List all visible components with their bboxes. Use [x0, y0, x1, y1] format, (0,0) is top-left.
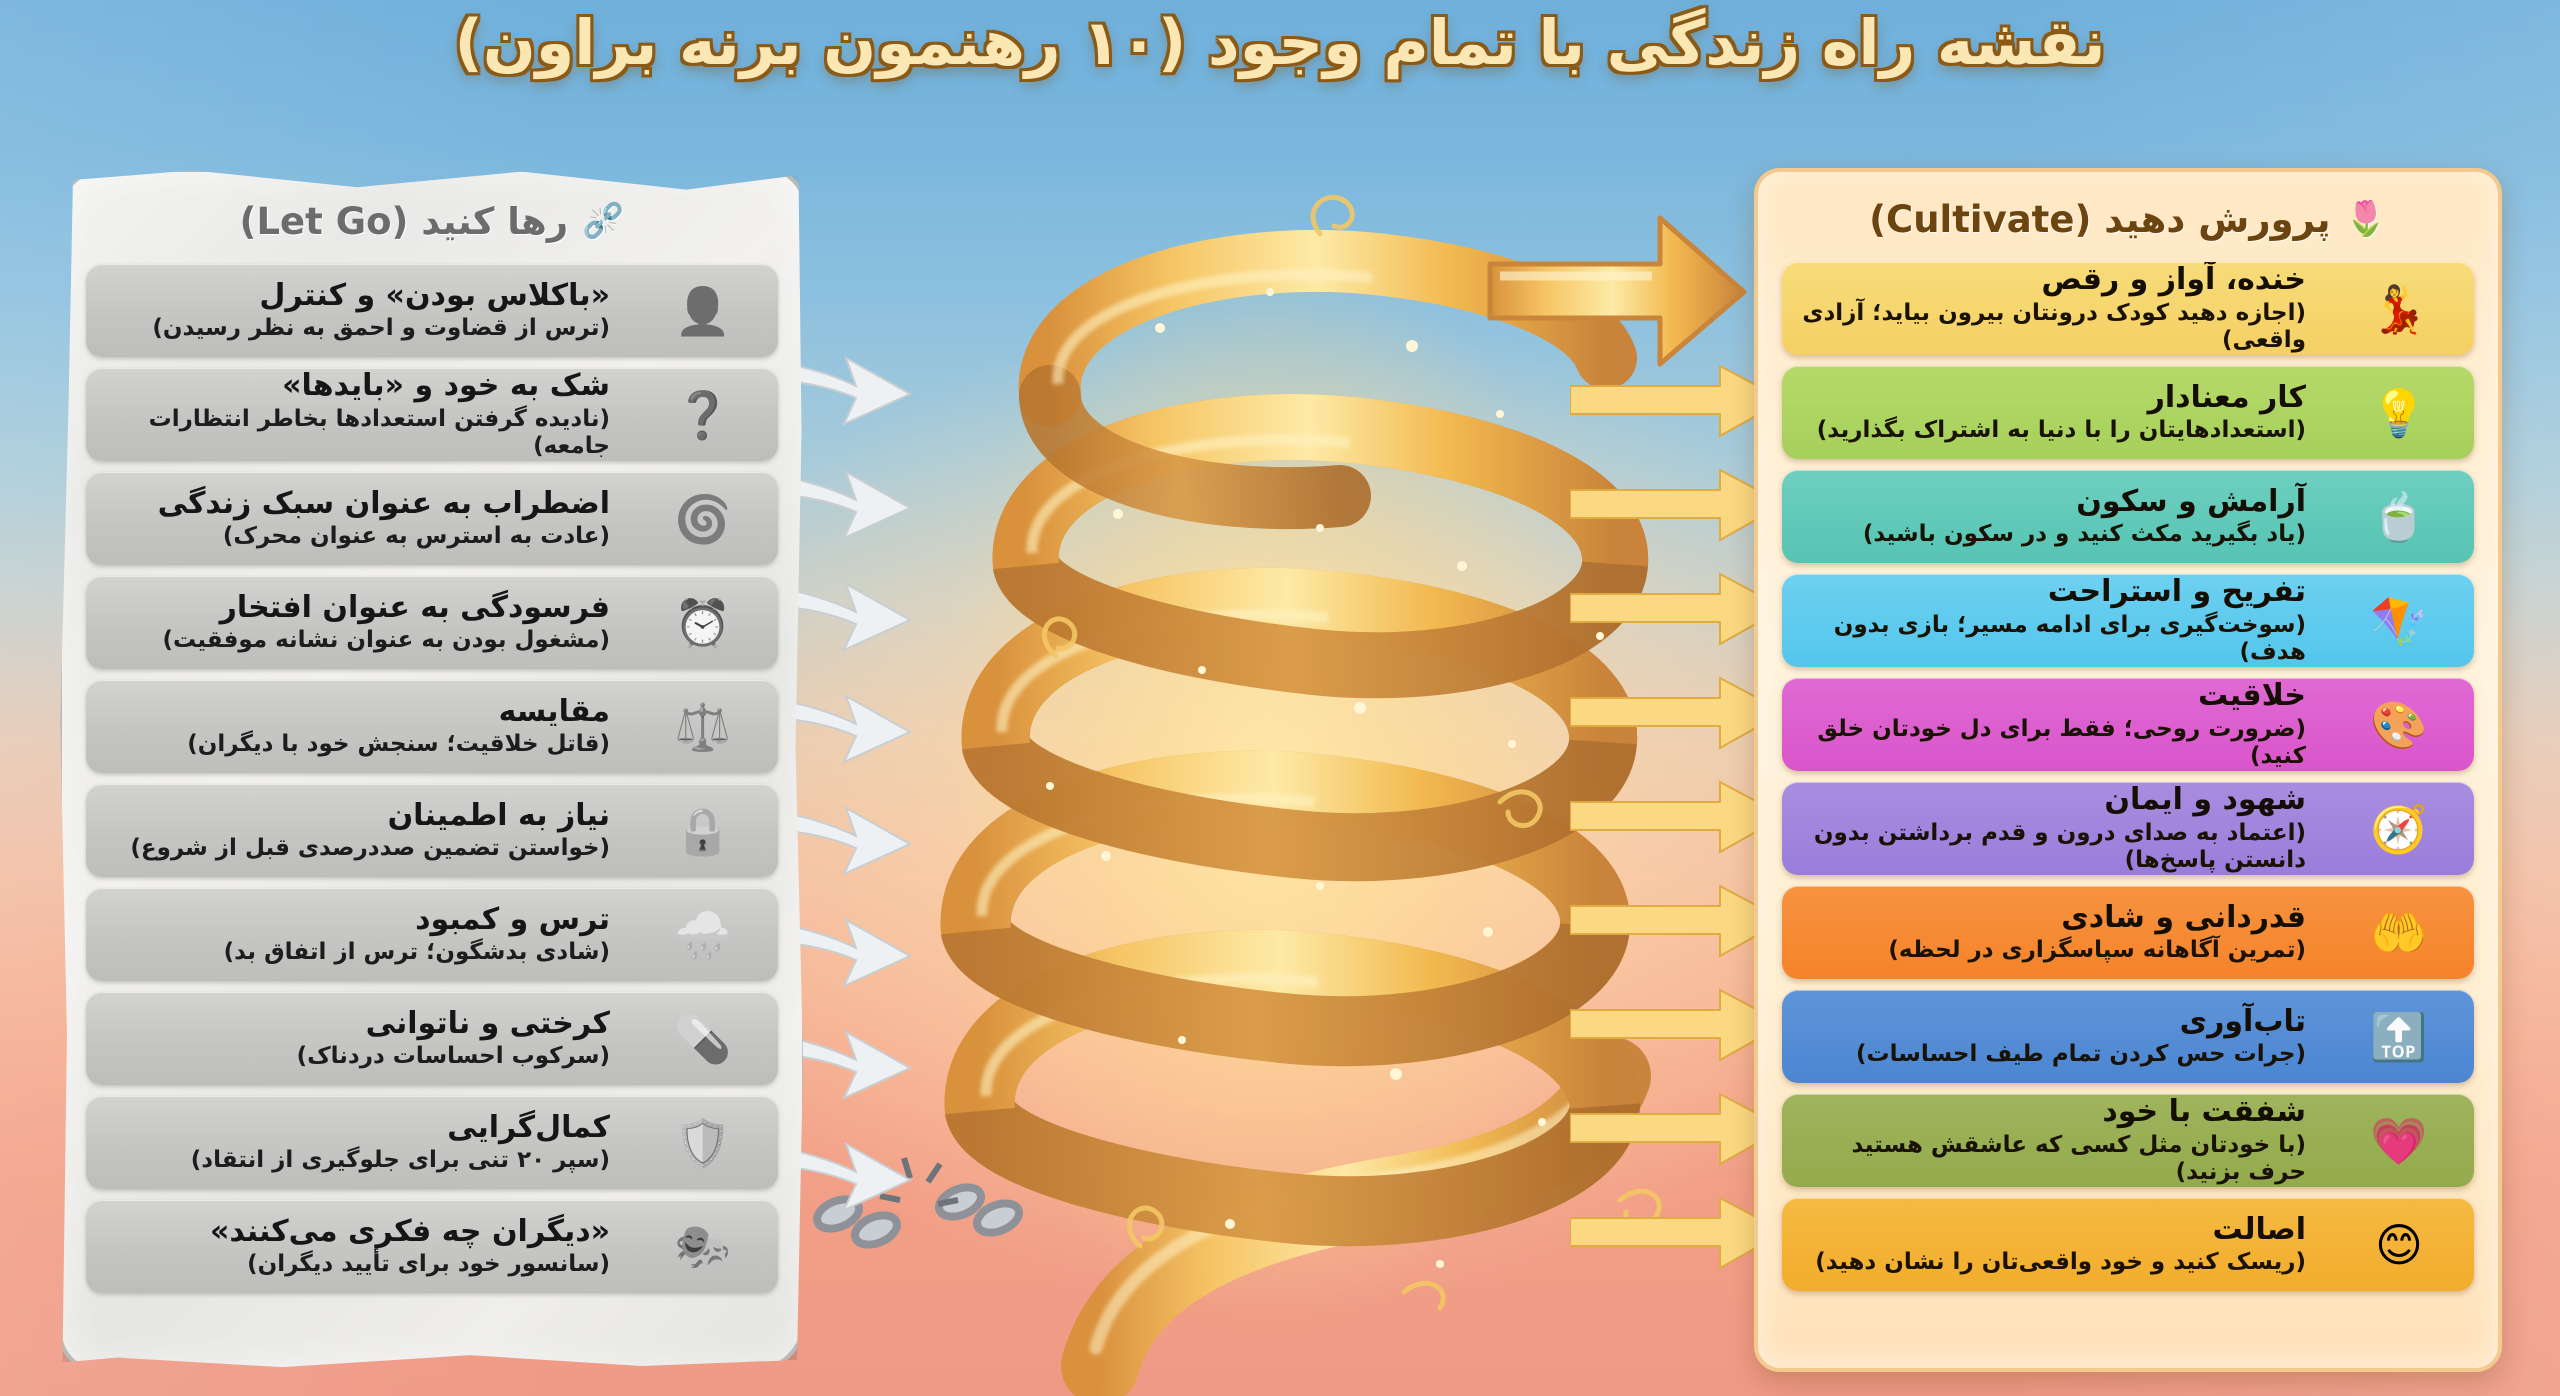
compass-icon: 🧭 — [2324, 785, 2474, 873]
pills-bottle-icon: 💊 — [628, 995, 778, 1083]
list-item[interactable]: ⚖️مقایسه(قاتل خلاقیت؛ سنجش خود با دیگران… — [86, 680, 778, 773]
list-item-subtitle: (عادت به استرس به عنوان محرک) — [96, 523, 610, 550]
broken-chain-icon: ⛓️‍💥 — [582, 201, 624, 241]
list-item-text: کرختی و ناتوانی(سرکوب احساسات دردناک) — [86, 1007, 628, 1071]
list-item[interactable]: 💡کار معنادار(استعدادهایتان را با دنیا به… — [1782, 366, 2474, 459]
list-item-subtitle: (سرکوب احساسات دردناک) — [96, 1043, 610, 1070]
list-item-title: ترس و کمبود — [96, 903, 610, 938]
list-item-title: مقایسه — [96, 695, 610, 730]
list-item[interactable]: 🛡️کمال‌گرایی(سپر ۲۰ تنی برای جلوگیری از … — [86, 1096, 778, 1189]
list-item-title: اضطراب به عنوان سبک زندگی — [96, 487, 610, 522]
list-item-title: خلاقیت — [1792, 679, 2306, 714]
list-item-title: کار معنادار — [1792, 381, 2306, 416]
list-item-subtitle: (با خودتان مثل کسی که عاشقش هستید حرف بز… — [1792, 1132, 2306, 1186]
tea-cup-icon: 🍵 — [2324, 473, 2474, 561]
list-item-subtitle: (جرات حس کردن تمام طیف احساسات) — [1792, 1041, 2306, 1068]
list-item[interactable]: 🌧️ترس و کمبود(شادی بدشگون؛ ترس از اتفاق … — [86, 888, 778, 981]
let-go-header-label: رها کنید (Let Go) — [240, 200, 569, 243]
list-item-subtitle: (سانسور خود برای تأیید دیگران) — [96, 1251, 610, 1278]
list-item-subtitle: (یاد بگیرید مکث کنید و در سکون باشید) — [1792, 521, 2306, 548]
list-item-title: کرختی و ناتوانی — [96, 1007, 610, 1042]
list-item-text: شهود و ایمان(اعتماد به صدای درون و قدم ب… — [1782, 783, 2324, 874]
list-item-subtitle: (خواستن تضمین صددرصدی قبل از شروع) — [96, 835, 610, 862]
open-hands-icon: 🤲 — [2324, 889, 2474, 977]
list-item-text: آرامش و سکون(یاد بگیرید مکث کنید و در سک… — [1782, 485, 2324, 549]
infographic-canvas: نقشه راه زندگی با تمام وجود (۱۰ رهنمون ب… — [0, 0, 2560, 1396]
list-item[interactable]: 🔝تاب‌آوری(جرات حس کردن تمام طیف احساسات) — [1782, 990, 2474, 1083]
list-item-title: «دیگران چه فکری می‌کنند» — [96, 1215, 610, 1250]
list-item-subtitle: (ضرورت روحی؛ فقط برای دل خودتان خلق کنید… — [1792, 716, 2306, 770]
lightbulb-plant-icon: 💡 — [2324, 369, 2474, 457]
storm-cloud-icon: 🌧️ — [628, 891, 778, 979]
let-go-header: ⛓️‍💥 رها کنید (Let Go) — [62, 182, 802, 260]
list-item[interactable]: 🤲قدردانی و شادی(تمرین آگاهانه سپاسگزاری … — [1782, 886, 2474, 979]
list-item-title: نیاز به اطمینان — [96, 799, 610, 834]
masks-eyes-icon: 🎭 — [628, 1203, 778, 1291]
list-item-text: فرسودگی به عنوان افتخار(مشغول بودن به عن… — [86, 591, 628, 655]
list-item-text: قدردانی و شادی(تمرین آگاهانه سپاسگزاری د… — [1782, 901, 2324, 965]
list-item-subtitle: (سوخت‌گیری برای ادامه مسیر؛ بازی بدون هد… — [1792, 612, 2306, 666]
spring-arrow-icon: 🔝 — [2324, 993, 2474, 1081]
list-item-subtitle: (قاتل خلاقیت؛ سنجش خود با دیگران) — [96, 731, 610, 758]
list-item[interactable]: 🎨خلاقیت(ضرورت روحی؛ فقط برای دل خودتان خ… — [1782, 678, 2474, 771]
list-item[interactable]: ⏰فرسودگی به عنوان افتخار(مشغول بودن به ع… — [86, 576, 778, 669]
list-item-text: شفقت با خود(با خودتان مثل کسی که عاشقش ه… — [1782, 1095, 2324, 1186]
list-item-title: قدردانی و شادی — [1792, 901, 2306, 936]
cultivate-panel: 🌷 پرورش دهید (Cultivate) 💃خنده، آواز و ر… — [1754, 168, 2502, 1372]
list-item-subtitle: (اعتماد به صدای درون و قدم برداشتن بدون … — [1792, 820, 2306, 874]
list-item-text: اصالت(ریسک کنید و خود واقعی‌تان را نشان … — [1782, 1213, 2324, 1277]
list-item[interactable]: 💗شفقت با خود(با خودتان مثل کسی که عاشقش … — [1782, 1094, 2474, 1187]
list-item-title: «باکلاس بودن» و کنترل — [96, 279, 610, 314]
list-item-title: فرسودگی به عنوان افتخار — [96, 591, 610, 626]
cultivate-header-label: پرورش دهید (Cultivate) — [1869, 198, 2330, 241]
list-item[interactable]: 🪁تفریح و استراحت(سوخت‌گیری برای ادامه مس… — [1782, 574, 2474, 667]
list-item-text: کمال‌گرایی(سپر ۲۰ تنی برای جلوگیری از ان… — [86, 1111, 628, 1175]
list-item-text: اضطراب به عنوان سبک زندگی(عادت به استرس … — [86, 487, 628, 551]
kite-swing-icon: 🪁 — [2324, 577, 2474, 665]
scales-ruler-icon: ⚖️ — [628, 683, 778, 771]
list-item-text: تاب‌آوری(جرات حس کردن تمام طیف احساسات) — [1782, 1005, 2324, 1069]
list-item-title: شهود و ایمان — [1792, 783, 2306, 818]
list-item[interactable]: 👤«باکلاس بودن» و کنترل(ترس از قضاوت و اح… — [86, 264, 778, 357]
list-item-subtitle: (شادی بدشگون؛ ترس از اتفاق بد) — [96, 939, 610, 966]
list-item-text: «باکلاس بودن» و کنترل(ترس از قضاوت و احم… — [86, 279, 628, 343]
let-go-list: 👤«باکلاس بودن» و کنترل(ترس از قضاوت و اح… — [62, 260, 802, 1314]
list-item-subtitle: (تمرین آگاهانه سپاسگزاری در لحظه) — [1792, 937, 2306, 964]
list-item[interactable]: 💊کرختی و ناتوانی(سرکوب احساسات دردناک) — [86, 992, 778, 1085]
list-item[interactable]: ❓شک به خود و «بایدها»(نادیده گرفتن استعد… — [86, 368, 778, 461]
cultivate-list: 💃خنده، آواز و رقص(اجازه دهید کودک درونتا… — [1758, 258, 2498, 1312]
list-item-subtitle: (استعدادهایتان را با دنیا به اشتراک بگذا… — [1792, 417, 2306, 444]
list-item-text: خلاقیت(ضرورت روحی؛ فقط برای دل خودتان خل… — [1782, 679, 2324, 770]
businessman-icon: 👤 — [628, 267, 778, 355]
list-item-text: نیاز به اطمینان(خواستن تضمین صددرصدی قبل… — [86, 799, 628, 863]
list-item-text: تفریح و استراحت(سوخت‌گیری برای ادامه مسی… — [1782, 575, 2324, 666]
heart-hands-icon: 💗 — [2324, 1097, 2474, 1185]
list-item-title: کمال‌گرایی — [96, 1111, 610, 1146]
cultivate-header: 🌷 پرورش دهید (Cultivate) — [1758, 180, 2498, 258]
list-item[interactable]: 💃خنده، آواز و رقص(اجازه دهید کودک درونتا… — [1782, 262, 2474, 355]
page-title: نقشه راه زندگی با تمام وجود (۱۰ رهنمون ب… — [438, 8, 2121, 77]
list-item-subtitle: (نادیده گرفتن استعدادها بخاطر انتظارات ج… — [96, 406, 610, 460]
fingerprint-face-icon: 😊 — [2324, 1201, 2474, 1289]
list-item[interactable]: 😊اصالت(ریسک کنید و خود واقعی‌تان را نشان… — [1782, 1198, 2474, 1291]
list-item-subtitle: (سپر ۲۰ تنی برای جلوگیری از انتقاد) — [96, 1147, 610, 1174]
list-item-title: آرامش و سکون — [1792, 485, 2306, 520]
dancing-woman-icon: 💃 — [2324, 265, 2474, 353]
list-item-title: تاب‌آوری — [1792, 1005, 2306, 1040]
list-item[interactable]: 🌀اضطراب به عنوان سبک زندگی(عادت به استرس… — [86, 472, 778, 565]
list-item-text: شک به خود و «بایدها»(نادیده گرفتن استعدا… — [86, 369, 628, 460]
tulip-icon: 🌷 — [2345, 199, 2387, 239]
list-item-title: شفقت با خود — [1792, 1095, 2306, 1130]
cracked-shield-icon: 🛡️ — [628, 1099, 778, 1187]
list-item[interactable]: 🍵آرامش و سکون(یاد بگیرید مکث کنید و در س… — [1782, 470, 2474, 563]
list-item-subtitle: (ترس از قضاوت و احمق به نظر رسیدن) — [96, 315, 610, 342]
list-item-text: خنده، آواز و رقص(اجازه دهید کودک درونتان… — [1782, 263, 2324, 354]
list-item-title: تفریح و استراحت — [1792, 575, 2306, 610]
title-area: نقشه راه زندگی با تمام وجود (۱۰ رهنمون ب… — [0, 8, 2560, 77]
list-item-subtitle: (ریسک کنید و خود واقعی‌تان را نشان دهید) — [1792, 1249, 2306, 1276]
list-item[interactable]: 🎭«دیگران چه فکری می‌کنند»(سانسور خود برا… — [86, 1200, 778, 1293]
list-item-text: کار معنادار(استعدادهایتان را با دنیا به … — [1782, 381, 2324, 445]
list-item[interactable]: 🧭شهود و ایمان(اعتماد به صدای درون و قدم … — [1782, 782, 2474, 875]
list-item-text: ترس و کمبود(شادی بدشگون؛ ترس از اتفاق بد… — [86, 903, 628, 967]
list-item-title: شک به خود و «بایدها» — [96, 369, 610, 404]
list-item-subtitle: (اجازه دهید کودک درونتان بیرون بیاید؛ آز… — [1792, 300, 2306, 354]
list-item-text: مقایسه(قاتل خلاقیت؛ سنجش خود با دیگران) — [86, 695, 628, 759]
lock-document-icon: 🔒 — [628, 787, 778, 875]
list-item-title: اصالت — [1792, 1213, 2306, 1248]
tangled-brain-icon: 🌀 — [628, 475, 778, 563]
list-item[interactable]: 🔒نیاز به اطمینان(خواستن تضمین صددرصدی قب… — [86, 784, 778, 877]
palette-music-icon: 🎨 — [2324, 681, 2474, 769]
list-item-text: «دیگران چه فکری می‌کنند»(سانسور خود برای… — [86, 1215, 628, 1279]
list-item-subtitle: (مشغول بودن به عنوان نشانه موفقیت) — [96, 627, 610, 654]
battery-clock-icon: ⏰ — [628, 579, 778, 667]
chain-question-icon: ❓ — [628, 371, 778, 459]
let-go-panel: ⛓️‍💥 رها کنید (Let Go) 👤«باکلاس بودن» و … — [58, 168, 806, 1372]
list-item-title: خنده، آواز و رقص — [1792, 263, 2306, 298]
